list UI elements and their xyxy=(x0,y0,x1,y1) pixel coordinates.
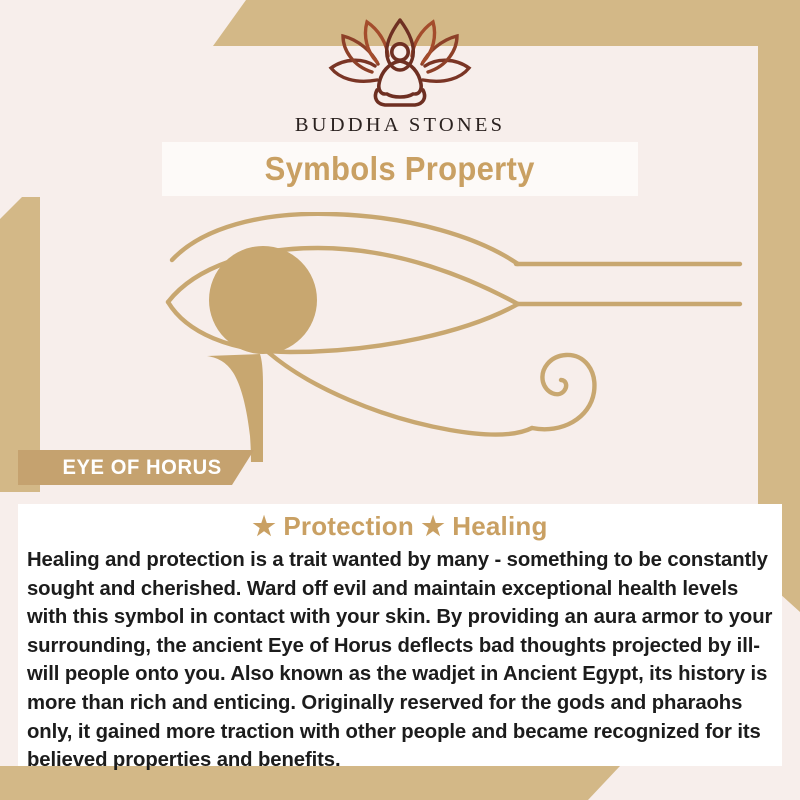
title-banner: Symbols Property xyxy=(162,142,638,196)
page-title: Symbols Property xyxy=(265,150,535,188)
content-panel: ★ Protection ★ Healing Healing and prote… xyxy=(18,504,782,766)
symbol-name-label: EYE OF HORUS xyxy=(22,456,222,480)
eye-of-horus-icon xyxy=(150,212,760,462)
decorative-left-strip xyxy=(0,197,40,492)
brand-wordmark: BUDDHA STONES xyxy=(0,114,800,137)
lotus-meditation-figure-icon xyxy=(315,14,485,112)
brand-logo-block: BUDDHA STONES xyxy=(0,14,800,137)
symbol-name-ribbon: EYE OF HORUS xyxy=(18,450,254,485)
properties-line: ★ Protection ★ Healing xyxy=(18,504,782,542)
description-text: Healing and protection is a trait wanted… xyxy=(27,546,775,775)
symbol-property-poster: BUDDHA STONES Symbols Property EYE OF HO… xyxy=(0,0,800,800)
